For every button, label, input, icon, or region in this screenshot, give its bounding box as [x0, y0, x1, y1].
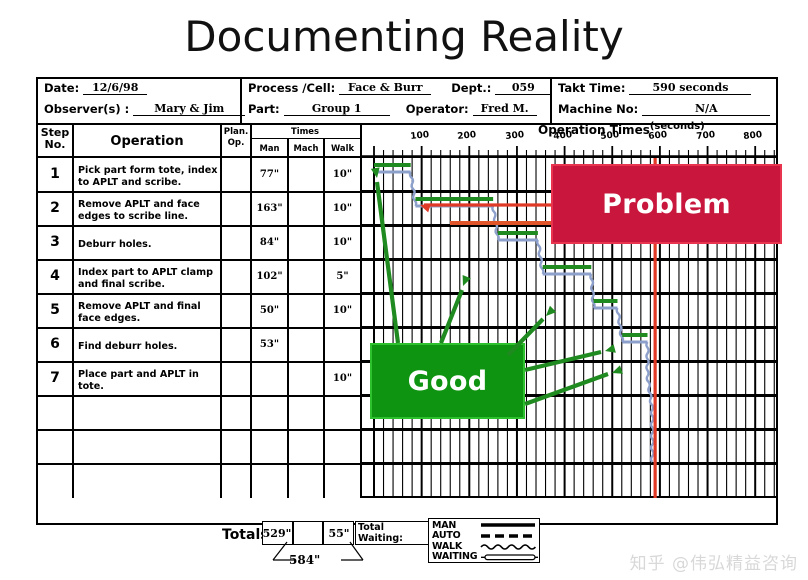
takt-value[interactable]: 590 seconds: [629, 81, 751, 95]
cell-man-time: 50": [252, 305, 287, 316]
column-rule-1: [220, 158, 222, 498]
cell-step-no: 6: [42, 336, 68, 352]
date-value[interactable]: 12/6/98: [83, 81, 147, 95]
walk-line-wavy: [410, 172, 416, 206]
header-block-process: Process /Cell: Face & Burr Dept.: 059 Pa…: [242, 79, 550, 125]
cell-step-no: 5: [42, 302, 68, 318]
col-operation-header: Operation: [74, 134, 220, 149]
totals-sum-value: 584": [289, 553, 320, 567]
x-tick-label: 300: [505, 130, 525, 142]
cell-walk-time: 10": [325, 203, 360, 214]
machine-value[interactable]: N/A: [642, 102, 770, 116]
cell-step-no: 3: [42, 234, 68, 250]
dept-value[interactable]: 059: [495, 81, 551, 95]
legend-swatch-walk-icon: [481, 545, 535, 549]
walk-line-wavy: [537, 240, 543, 274]
col-times-header: Times: [250, 126, 360, 136]
process-value[interactable]: Face & Burr: [339, 81, 431, 95]
total-waiting-label: Total Waiting:: [358, 523, 403, 544]
cell-operation: Deburr holes.: [78, 232, 218, 258]
totals-walk-value: 55": [324, 527, 354, 540]
cell-operation-text: Remove APLT and final face edges.: [78, 301, 218, 325]
cell-walk-time: 10": [325, 169, 360, 180]
legend-swatch-waiting-icon: [485, 555, 535, 560]
callout-good[interactable]: Good: [370, 343, 525, 419]
operator-label: Operator:: [406, 102, 469, 116]
x-tick-label: 500: [600, 130, 620, 142]
cell-man-time: 77": [252, 169, 287, 180]
cell-walk-time: 10": [325, 305, 360, 316]
cell-operation: Find deburr holes.: [78, 334, 218, 360]
watermark: 知乎 @伟弘精益咨询: [630, 549, 798, 574]
cell-step-no: 7: [42, 370, 68, 386]
cell-operation: Remove APLT and final face edges.: [78, 300, 218, 326]
walk-line-wavy: [646, 342, 648, 376]
cell-step-no: 4: [42, 268, 68, 284]
col-mach-header: Mach: [289, 143, 323, 153]
part-label: Part:: [248, 102, 280, 116]
col-plan-header: Plan. Op.: [222, 127, 250, 149]
x-tick-label: 700: [696, 130, 716, 142]
cell-man-time: 53": [252, 339, 287, 350]
header-block-takt: Takt Time: 590 seconds Machine No: N/A: [552, 79, 778, 125]
cell-operation: Pick part form tote, index to APLT and s…: [78, 164, 218, 190]
cell-operation: Remove APLT and face edges to scribe lin…: [78, 198, 218, 224]
column-rule-0: [72, 158, 74, 498]
chart-x-axis: 100200300400500600700800: [360, 125, 776, 158]
col-man-header: Man: [252, 143, 287, 153]
legend: MAN AUTO WALK WAITING: [428, 518, 540, 563]
times-underline: [250, 138, 360, 139]
dept-label: Dept.:: [451, 81, 491, 95]
legend-label-waiting: WAITING: [432, 551, 477, 562]
cell-man-time: 163": [252, 203, 287, 214]
cell-operation-text: Remove APLT and face edges to scribe lin…: [78, 199, 218, 223]
x-tick-label: 800: [743, 130, 763, 142]
callout-good-label: Good: [408, 366, 488, 397]
table-column-header: Step No. Operation Plan. Op. Times Man M…: [38, 125, 776, 158]
machine-label: Machine No:: [558, 102, 638, 116]
cell-walk-time: 10": [325, 237, 360, 248]
x-tick-label: 400: [553, 130, 573, 142]
walk-line-tail: [651, 410, 654, 462]
operator-value[interactable]: Fred M.: [473, 102, 537, 116]
cell-walk-time: 5": [325, 271, 360, 282]
cell-operation: Place part and APLT in tote.: [78, 368, 218, 394]
standard-work-combination-sheet: Date: 12/6/98 Observer(s) : Mary & Jim P…: [36, 77, 778, 525]
x-tick-label: 100: [410, 130, 430, 142]
header-block-date-observer: Date: 12/6/98 Observer(s) : Mary & Jim: [38, 79, 240, 125]
date-label: Date:: [44, 81, 79, 95]
col-walk-header: Walk: [325, 143, 360, 153]
cell-walk-time: 10": [325, 373, 360, 384]
totals-man-value: 529": [262, 527, 292, 540]
cell-operation-text: Find deburr holes.: [78, 341, 177, 353]
cell-man-time: 102": [252, 271, 287, 282]
legend-swatches: [479, 519, 539, 564]
x-tick-label: 600: [648, 130, 668, 142]
observer-value[interactable]: Mary & Jim: [133, 102, 245, 116]
cell-operation-text: Index part to APLT clamp and final scrib…: [78, 267, 218, 291]
column-rule-3: [287, 158, 289, 498]
cell-step-no: 2: [42, 200, 68, 216]
sheet-header: Date: 12/6/98 Observer(s) : Mary & Jim P…: [38, 79, 776, 125]
observer-label: Observer(s) :: [44, 102, 129, 116]
col-step-header: Step No.: [38, 127, 72, 151]
takt-label: Takt Time:: [558, 81, 625, 95]
part-value[interactable]: Group 1: [284, 102, 390, 116]
page-title: Documenting Reality: [0, 12, 808, 61]
cell-operation-text: Place part and APLT in tote.: [78, 369, 218, 393]
legend-label-auto: AUTO: [432, 530, 461, 541]
cell-step-no: 1: [42, 166, 68, 182]
process-label: Process /Cell:: [248, 81, 335, 95]
callout-problem[interactable]: Problem: [551, 164, 782, 244]
cell-operation: Index part to APLT clamp and final scrib…: [78, 266, 218, 292]
x-tick-label: 200: [457, 130, 477, 142]
cell-operation-text: Deburr holes.: [78, 239, 152, 251]
cell-man-time: 84": [252, 237, 287, 248]
cell-operation-text: Pick part form tote, index to APLT and s…: [78, 165, 218, 189]
callout-problem-label: Problem: [602, 189, 731, 220]
documenting-reality-slide: Documenting Reality Date: 12/6/98 Observ…: [0, 0, 808, 580]
